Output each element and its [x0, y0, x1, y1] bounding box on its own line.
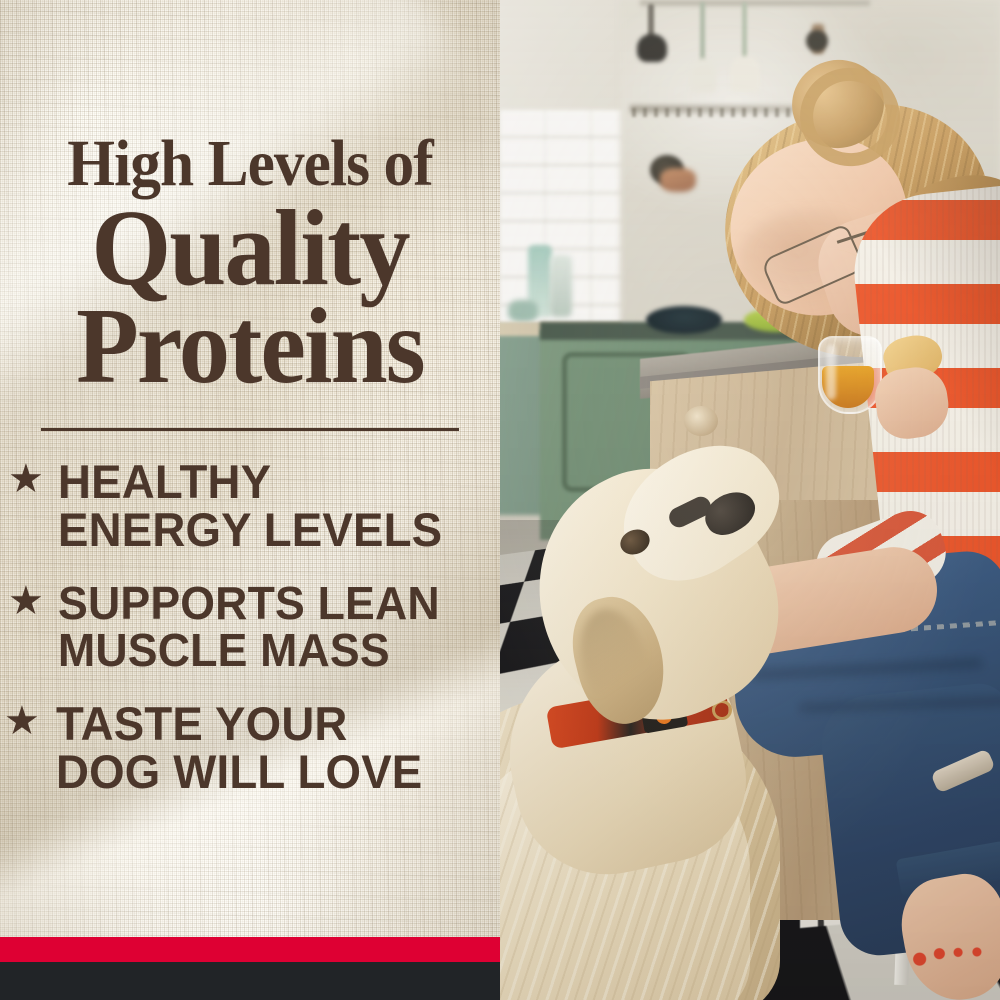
- counter-bottle-white: [550, 255, 572, 317]
- spoon-handle-icon: [742, 2, 747, 62]
- headline-line-2: Quality: [13, 197, 488, 301]
- star-icon: ★: [4, 704, 38, 738]
- list-item: ★ TASTE YOUR DOG WILL LOVE: [0, 700, 500, 796]
- headline-line-1: High Levels of: [18, 132, 483, 195]
- star-icon: ★: [8, 584, 42, 618]
- utensil-rail: [640, 0, 870, 6]
- headline-line-3: Proteins: [13, 295, 488, 399]
- wood-brush-head-icon: [806, 30, 828, 52]
- benefits-list: ★ HEALTHY ENERGY LEVELS ★ SUPPORTS LEAN …: [0, 458, 500, 822]
- hanging-pan-copper: [660, 168, 696, 192]
- lifestyle-photo: [500, 0, 1000, 1000]
- footer-dark-band: [0, 962, 500, 1000]
- list-item: ★ HEALTHY ENERGY LEVELS: [0, 458, 500, 554]
- glass-highlight: [826, 344, 836, 400]
- left-content-panel: High Levels of Quality Proteins ★ HEALTH…: [0, 0, 500, 1000]
- ladle-bowl-icon: [637, 34, 667, 62]
- benefit-label-2: SUPPORTS LEAN MUSCLE MASS: [58, 580, 487, 674]
- list-item: ★ SUPPORTS LEAN MUSCLE MASS: [0, 580, 500, 674]
- spatula-head-icon: [690, 58, 716, 92]
- spoon-head-icon: [730, 56, 760, 92]
- benefit-label-1: HEALTHY ENERGY LEVELS: [58, 458, 487, 554]
- benefit-label-3: TASTE YOUR DOG WILL LOVE: [56, 700, 487, 796]
- star-icon: ★: [8, 462, 42, 496]
- promo-canvas: High Levels of Quality Proteins ★ HEALTH…: [0, 0, 1000, 1000]
- footer-red-band: [0, 937, 500, 962]
- cooktop-pot-dark: [646, 306, 722, 334]
- page-title: High Levels of Quality Proteins: [0, 132, 500, 399]
- shelf-hooks: [632, 108, 818, 117]
- counter-bowl-green: [508, 300, 538, 322]
- drawer-knob: [684, 406, 718, 436]
- spatula-handle-icon: [700, 2, 705, 64]
- divider-rule: [41, 428, 459, 431]
